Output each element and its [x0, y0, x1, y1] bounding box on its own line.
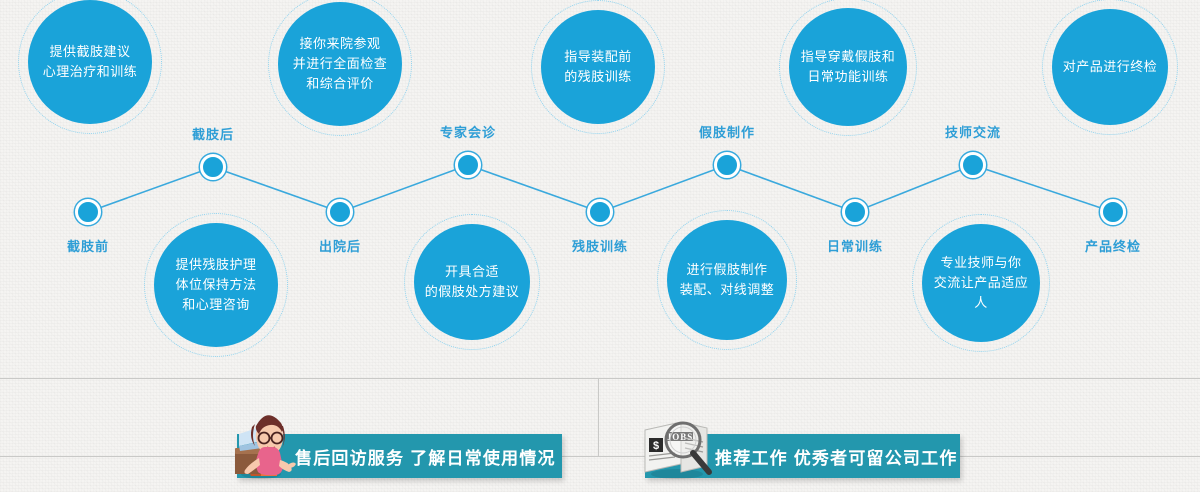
timeline-node-label-7: 技师交流 — [945, 122, 1001, 141]
timeline-node-label-8: 产品终检 — [1085, 236, 1141, 255]
timeline-node-4[interactable] — [587, 199, 613, 225]
section-divider — [0, 378, 1200, 379]
bubble-top-0[interactable]: 提供截肢建议 心理治疗和训练 — [28, 0, 152, 124]
vertical-connector — [598, 378, 599, 456]
bubble-text: 接你来院参观 并进行全面检查 和综合评价 — [283, 34, 398, 94]
timeline-node-6[interactable] — [842, 199, 868, 225]
timeline-node-5[interactable] — [714, 152, 740, 178]
bubble-top-2[interactable]: 指导装配前 的残肢训练 — [541, 10, 655, 124]
timeline-node-label-3: 专家会诊 — [440, 122, 496, 141]
bubble-text: 指导穿戴假肢和 日常功能训练 — [791, 47, 906, 87]
timeline-node-label-6: 日常训练 — [827, 236, 883, 255]
banner-rail — [0, 456, 1200, 457]
bubble-top-1[interactable]: 接你来院参观 并进行全面检查 和综合评价 — [278, 2, 402, 126]
banner-label-1: 推荐工作 优秀者可留公司工作 — [715, 444, 958, 469]
bubble-bottom-1[interactable]: 开具合适 的假肢处方建议 — [414, 224, 530, 340]
bubble-top-3[interactable]: 指导穿戴假肢和 日常功能训练 — [789, 8, 907, 126]
bubble-top-4[interactable]: 对产品进行终检 — [1052, 9, 1168, 125]
timeline-node-label-1: 截肢后 — [192, 124, 234, 143]
bubble-bottom-3[interactable]: 专业技师与你 交流让产品适应人 — [922, 224, 1040, 342]
bubble-text: 开具合适 的假肢处方建议 — [415, 262, 530, 302]
timeline-node-1[interactable] — [200, 154, 226, 180]
bubble-text: 提供截肢建议 心理治疗和训练 — [33, 42, 148, 82]
bubble-text: 进行假肢制作 装配、对线调整 — [670, 260, 785, 300]
timeline-node-label-4: 残肢训练 — [572, 236, 628, 255]
bubble-text: 专业技师与你 交流让产品适应人 — [922, 253, 1040, 313]
timeline-node-label-5: 假肢制作 — [699, 122, 755, 141]
timeline-node-label-0: 截肢前 — [67, 236, 109, 255]
timeline-node-3[interactable] — [455, 152, 481, 178]
timeline-node-8[interactable] — [1100, 199, 1126, 225]
banner-0[interactable]: 售后回访服务 了解日常使用情况 — [237, 434, 562, 478]
bubble-text: 对产品进行终检 — [1053, 57, 1168, 77]
process-timeline-diagram: 提供截肢建议 心理治疗和训练接你来院参观 并进行全面检查 和综合评价指导装配前 … — [0, 0, 1200, 492]
bubble-bottom-2[interactable]: 进行假肢制作 装配、对线调整 — [667, 220, 787, 340]
timeline-node-2[interactable] — [327, 199, 353, 225]
banner-1[interactable]: 推荐工作 优秀者可留公司工作 — [645, 434, 960, 478]
timeline-node-label-2: 出院后 — [319, 236, 361, 255]
banner-label-0: 售后回访服务 了解日常使用情况 — [295, 444, 556, 469]
timeline-node-7[interactable] — [960, 152, 986, 178]
bubble-text: 指导装配前 的残肢训练 — [554, 47, 642, 87]
bubble-bottom-0[interactable]: 提供残肢护理 体位保持方法 和心理咨询 — [154, 223, 278, 347]
bubble-text: 提供残肢护理 体位保持方法 和心理咨询 — [165, 255, 266, 315]
timeline-node-0[interactable] — [75, 199, 101, 225]
